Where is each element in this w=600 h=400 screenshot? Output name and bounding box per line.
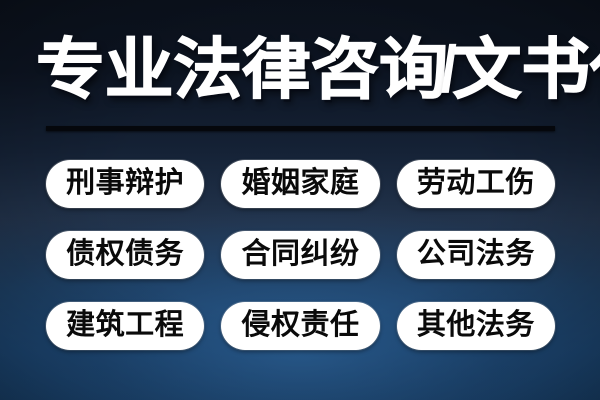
- service-pill-label: 劳动工伤: [417, 169, 535, 198]
- service-pill-corporate-legal[interactable]: 公司法务: [397, 231, 555, 279]
- service-pill-label: 刑事辩护: [66, 169, 184, 198]
- service-pill-label: 侵权责任: [241, 311, 359, 340]
- service-row-3: 建筑工程 侵权责任 其他法务: [46, 302, 555, 350]
- service-pill-criminal-defense[interactable]: 刑事辩护: [46, 160, 204, 208]
- service-pill-creditor-debt[interactable]: 债权债务: [46, 231, 204, 279]
- title-divider: [46, 126, 555, 131]
- service-category-grid: 刑事辩护 婚姻家庭 劳动工伤 债权债务 合同纠纷 公司法务 建筑工程: [46, 160, 555, 350]
- title-text-right: 文书代写: [453, 36, 600, 102]
- service-pill-labor-injury[interactable]: 劳动工伤: [397, 160, 555, 208]
- service-row-1: 刑事辩护 婚姻家庭 劳动工伤: [46, 160, 555, 208]
- service-pill-label: 其他法务: [417, 311, 535, 340]
- service-pill-label: 公司法务: [417, 240, 535, 269]
- legal-services-banner: 专业法律咨询 / 文书代写 刑事辩护 婚姻家庭 劳动工伤 债权债务 合同纠纷: [0, 0, 600, 400]
- service-row-2: 债权债务 合同纠纷 公司法务: [46, 231, 555, 279]
- title-text-left: 专业法律咨询: [36, 36, 448, 102]
- service-pill-tort-liability[interactable]: 侵权责任: [221, 302, 379, 350]
- service-pill-other-legal[interactable]: 其他法务: [397, 302, 555, 350]
- service-pill-contract-dispute[interactable]: 合同纠纷: [221, 231, 379, 279]
- service-pill-label: 婚姻家庭: [241, 169, 359, 198]
- service-pill-label: 债权债务: [66, 240, 184, 269]
- service-pill-marriage-family[interactable]: 婚姻家庭: [221, 160, 379, 208]
- service-pill-construction-engineering[interactable]: 建筑工程: [46, 302, 204, 350]
- service-pill-label: 合同纠纷: [241, 240, 359, 269]
- service-pill-label: 建筑工程: [66, 311, 184, 340]
- banner-title: 专业法律咨询 / 文书代写: [44, 27, 558, 111]
